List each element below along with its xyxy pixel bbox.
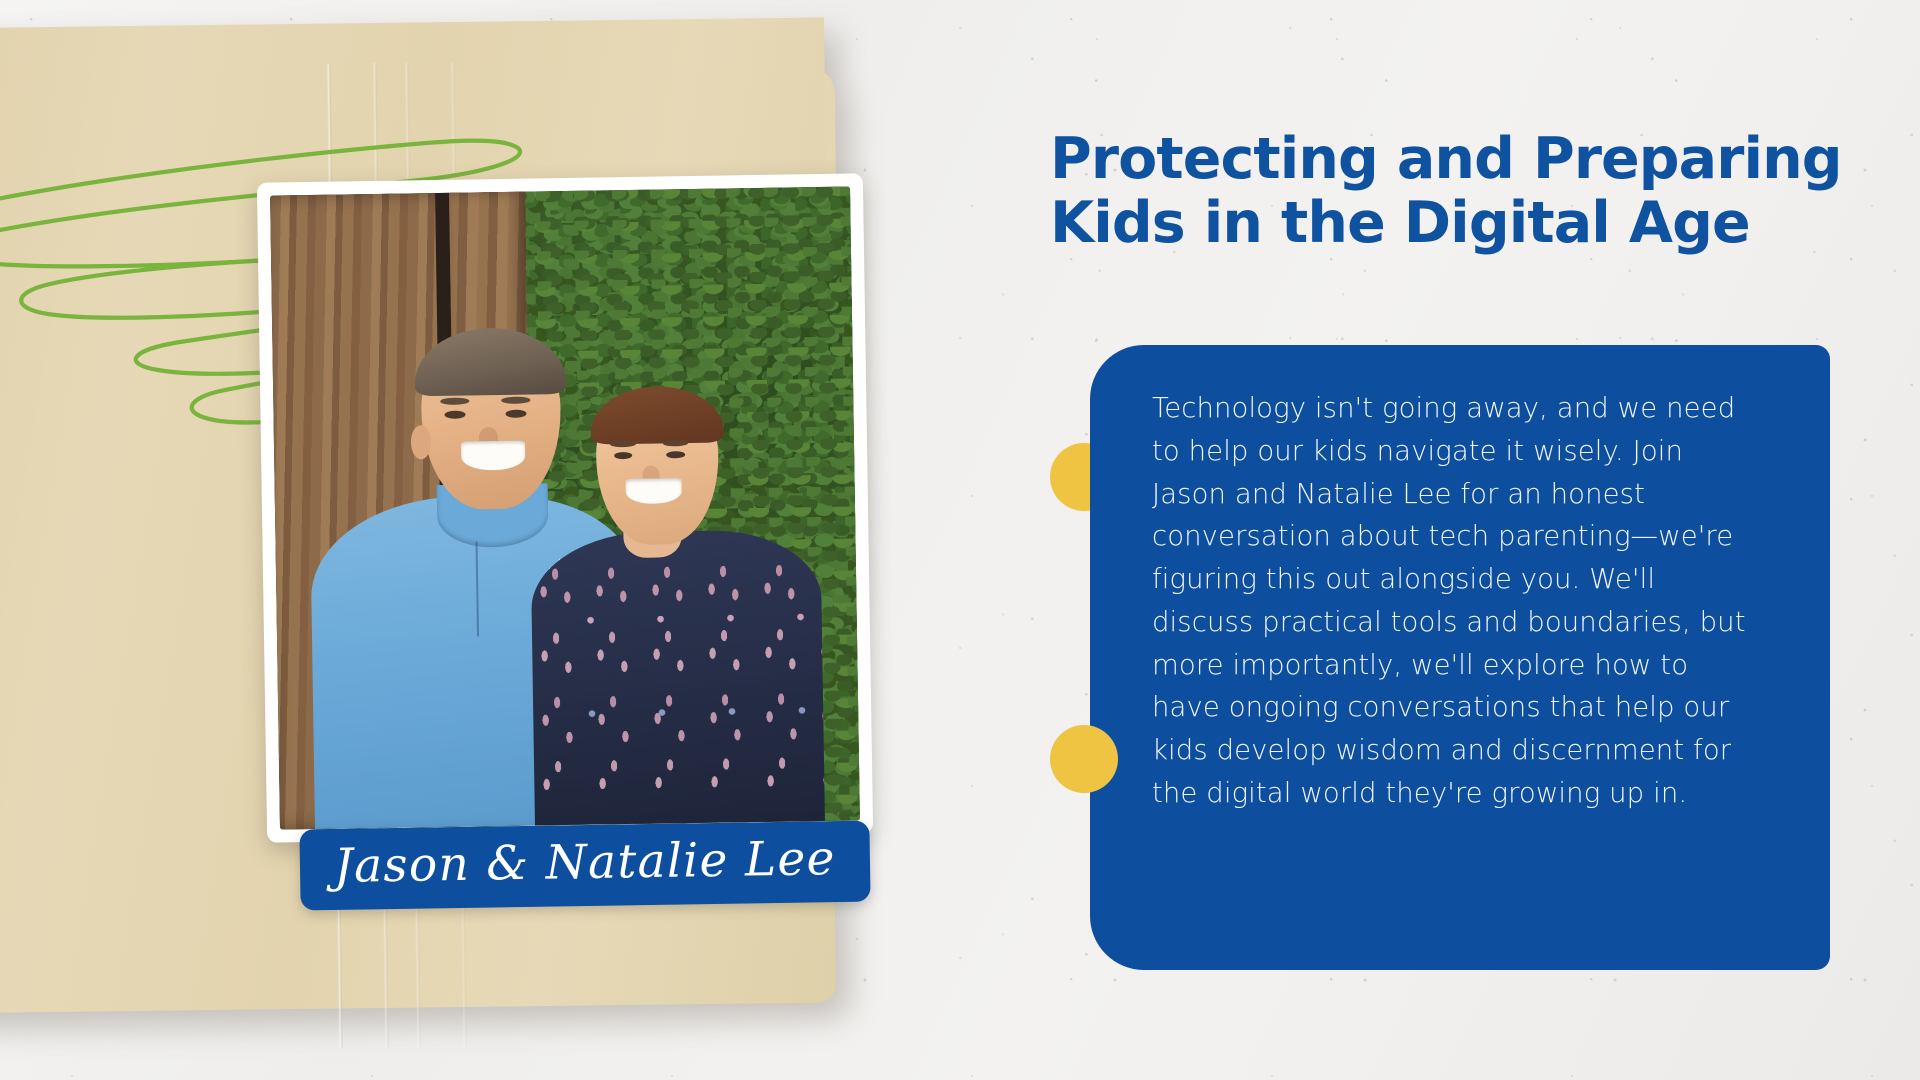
man-eye	[445, 410, 466, 418]
speaker-name-label: Jason & Natalie Lee	[334, 835, 836, 890]
presentation-slide: Jason & Natalie Lee Protecting and Prepa…	[0, 0, 1920, 1080]
description-text: Technology isn't going away, and we need…	[1152, 387, 1762, 815]
description-panel: Technology isn't going away, and we need…	[1090, 345, 1830, 970]
speaker-photo	[270, 186, 860, 829]
woman-eyebrow	[610, 441, 636, 447]
page-title-line-2: Kids in the Digital Age	[1050, 190, 1750, 256]
woman-eye	[666, 451, 685, 458]
speaker-name-badge: Jason & Natalie Lee	[299, 821, 870, 911]
speaker-photo-card	[257, 173, 873, 842]
man-smile	[461, 440, 525, 470]
woman-eyebrow	[663, 440, 689, 446]
woman-dress-pattern	[531, 529, 826, 825]
page-title-line-1: Protecting and Preparing	[1050, 126, 1842, 192]
page-title: Protecting and Preparing Kids in the Dig…	[1050, 128, 1900, 256]
content-column: Protecting and Preparing Kids in the Dig…	[1040, 0, 1920, 1080]
man-eye	[505, 409, 526, 417]
yellow-dot-icon-bottom	[1050, 725, 1118, 793]
man-ear	[411, 425, 431, 460]
